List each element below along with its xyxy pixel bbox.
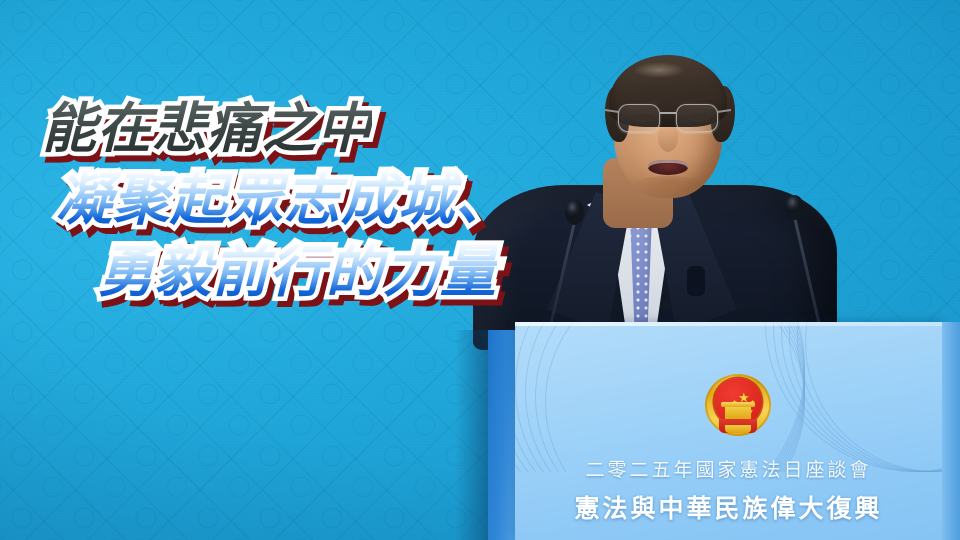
podium-caption: 二零二五年國家憲法日座談會 憲法與中華民族偉大復興: [515, 455, 942, 525]
speaker-nose: [658, 124, 678, 152]
glasses-lens-left: [618, 104, 660, 132]
headline-line-3: 勇毅前行的力量 勇毅前行的力量 勇毅前行的力量: [98, 227, 497, 308]
headline-line-2-text: 凝聚起眾志成城、: [56, 168, 512, 233]
podium-caption-line2: 憲法與中華民族偉大復興: [515, 489, 942, 525]
speaker-hair-highlight: [633, 62, 685, 78]
podium-caption-line1: 二零二五年國家憲法日座談會: [515, 455, 942, 482]
podium-left-shadow: [455, 330, 491, 540]
microphone-right-head: [785, 195, 804, 220]
glasses-lens-right: [676, 104, 718, 132]
headline-overlay: 能在悲痛之中 能在悲痛之中 能在悲痛之中 凝聚起眾志成城、 凝聚起眾志成城、 凝…: [0, 0, 560, 310]
screenshot-root: ★ ★ ★ ★ ★ 二零二五年國家憲法日座談會 憲法與中華民族偉大復興 能在悲痛…: [0, 0, 960, 540]
speaker-chin-shadow: [633, 176, 703, 194]
podium-left-side-panel: [488, 330, 516, 540]
podium-top-edge: [515, 322, 942, 326]
podium-right-edge: [942, 322, 960, 540]
headline-line-1: 能在悲痛之中 能在悲痛之中 能在悲痛之中: [42, 84, 372, 163]
speaker-suit-pocket: [687, 266, 705, 296]
national-emblem-icon: ★ ★ ★ ★ ★: [705, 370, 771, 442]
headline-line-2: 凝聚起眾志成城、 凝聚起眾志成城、 凝聚起眾志成城、: [56, 155, 512, 236]
headline-line-3-text: 勇毅前行的力量: [98, 240, 497, 305]
microphone-left-head: [565, 200, 584, 225]
glasses-bridge: [660, 112, 676, 114]
emblem-base-gold: [725, 425, 751, 433]
speaker-mouth: [648, 160, 688, 175]
headline-line-1-text: 能在悲痛之中: [42, 97, 372, 160]
emblem-tiananmen-gate: [725, 406, 751, 419]
